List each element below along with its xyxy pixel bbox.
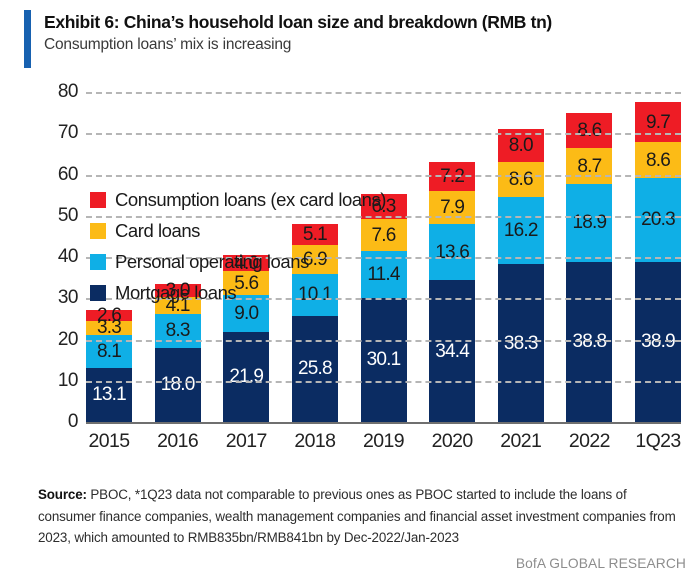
bar-segment[interactable]: 3.3 bbox=[86, 321, 132, 335]
gridline bbox=[86, 175, 681, 177]
legend-item[interactable]: Personal operating loans bbox=[90, 246, 440, 277]
legend-label: Consumption loans (ex card loans) bbox=[115, 189, 386, 211]
bar-value-label: 8.3 bbox=[166, 321, 190, 340]
bar-segment[interactable]: 18.9 bbox=[566, 184, 612, 262]
bar-segment[interactable]: 8.3 bbox=[155, 314, 201, 348]
x-axis-tick: 2022 bbox=[566, 430, 612, 453]
gridline bbox=[86, 92, 681, 94]
bar-segment[interactable]: 20.3 bbox=[635, 178, 681, 262]
bar-value-label: 8.7 bbox=[577, 157, 601, 176]
y-axis-tick: 30 bbox=[32, 287, 78, 309]
bar-segment[interactable]: 8.6 bbox=[498, 162, 544, 197]
x-axis-tick: 2019 bbox=[361, 430, 407, 453]
y-axis-tick: 60 bbox=[32, 164, 78, 186]
source-text: PBOC, *1Q23 data not comparable to previ… bbox=[38, 487, 676, 545]
gridline bbox=[86, 133, 681, 135]
gridline bbox=[86, 340, 681, 342]
bar-value-label: 34.4 bbox=[435, 342, 469, 361]
footer: Source: PBOC, *1Q23 data not comparable … bbox=[38, 484, 686, 549]
y-axis-tick: 80 bbox=[32, 81, 78, 103]
x-axis-tick: 2018 bbox=[292, 430, 338, 453]
bar-value-label: 18.0 bbox=[161, 375, 195, 394]
page-title: Exhibit 6: China’s household loan size a… bbox=[44, 11, 552, 33]
source-label: Source: bbox=[38, 487, 87, 502]
bar-value-label: 8.6 bbox=[577, 121, 601, 140]
legend-label: Personal operating loans bbox=[115, 251, 309, 273]
bar-segment[interactable]: 21.9 bbox=[223, 332, 269, 422]
exhibit-header: Exhibit 6: China’s household loan size a… bbox=[24, 10, 679, 68]
bar-value-label: 38.9 bbox=[641, 332, 675, 351]
y-axis-tick: 20 bbox=[32, 329, 78, 351]
legend-swatch-icon bbox=[90, 285, 106, 301]
bar-value-label: 13.1 bbox=[92, 385, 126, 404]
bar-segment[interactable]: 8.6 bbox=[566, 113, 612, 148]
legend-swatch-icon bbox=[90, 192, 106, 208]
bar-segment[interactable]: 13.1 bbox=[86, 368, 132, 422]
bar-value-label: 8.0 bbox=[509, 136, 533, 155]
bar-value-label: 8.1 bbox=[97, 342, 121, 361]
bar-value-label: 9.7 bbox=[646, 113, 670, 132]
legend-swatch-icon bbox=[90, 223, 106, 239]
x-axis-tick: 2020 bbox=[429, 430, 475, 453]
y-axis-tick: 40 bbox=[32, 246, 78, 268]
chart-legend: Consumption loans (ex card loans)Card lo… bbox=[90, 184, 440, 308]
page-subtitle: Consumption loans’ mix is increasing bbox=[44, 35, 552, 56]
bar-value-label: 30.1 bbox=[367, 350, 401, 369]
bar-value-label: 7.9 bbox=[440, 198, 464, 217]
bar-segment[interactable]: 38.8 bbox=[566, 262, 612, 422]
chart-page: Exhibit 6: China’s household loan size a… bbox=[0, 0, 699, 586]
y-axis-tick: 50 bbox=[32, 205, 78, 227]
x-axis: 201520162017201820192020202120221Q23 bbox=[86, 430, 681, 453]
source-note: Source: PBOC, *1Q23 data not comparable … bbox=[38, 484, 686, 549]
legend-item[interactable]: Consumption loans (ex card loans) bbox=[90, 184, 440, 215]
bar-segment[interactable]: 16.2 bbox=[498, 197, 544, 264]
bar-segment[interactable]: 30.1 bbox=[361, 298, 407, 422]
bar-value-label: 20.3 bbox=[641, 210, 675, 229]
x-axis-tick: 2021 bbox=[498, 430, 544, 453]
y-axis-tick: 70 bbox=[32, 122, 78, 144]
y-axis-tick: 0 bbox=[32, 411, 78, 433]
bar-segment[interactable]: 18.0 bbox=[155, 348, 201, 422]
bar-value-label: 38.8 bbox=[572, 332, 606, 351]
accent-bar bbox=[24, 10, 31, 68]
bar-value-label: 21.9 bbox=[229, 367, 263, 386]
bar-value-label: 25.8 bbox=[298, 359, 332, 378]
x-axis-line bbox=[86, 422, 681, 424]
gridline bbox=[86, 381, 681, 383]
x-axis-tick: 1Q23 bbox=[635, 430, 681, 453]
legend-label: Mortgage loans bbox=[115, 282, 236, 304]
bar-segment[interactable]: 8.6 bbox=[635, 142, 681, 177]
bar-segment[interactable]: 8.7 bbox=[566, 148, 612, 184]
bar-value-label: 8.6 bbox=[509, 170, 533, 189]
legend-item[interactable]: Card loans bbox=[90, 215, 440, 246]
header-text-block: Exhibit 6: China’s household loan size a… bbox=[44, 10, 552, 68]
legend-swatch-icon bbox=[90, 254, 106, 270]
bar-segment[interactable]: 9.7 bbox=[635, 102, 681, 142]
bar-value-label: 7.2 bbox=[440, 167, 464, 186]
x-axis-tick: 2016 bbox=[155, 430, 201, 453]
bar-segment[interactable]: 38.9 bbox=[635, 262, 681, 422]
x-axis-tick: 2015 bbox=[86, 430, 132, 453]
attribution: BofA GLOBAL RESEARCH bbox=[38, 556, 686, 571]
bar-value-label: 8.6 bbox=[646, 151, 670, 170]
legend-item[interactable]: Mortgage loans bbox=[90, 277, 440, 308]
chart-container: 01020304050607080 2.63.38.113.13.04.18.3… bbox=[0, 82, 699, 474]
y-axis-tick: 10 bbox=[32, 370, 78, 392]
x-axis-tick: 2017 bbox=[223, 430, 269, 453]
legend-label: Card loans bbox=[115, 220, 200, 242]
bar-value-label: 38.3 bbox=[504, 334, 538, 353]
y-axis: 01020304050607080 bbox=[32, 82, 78, 432]
bar-segment[interactable]: 38.3 bbox=[498, 264, 544, 422]
bar-value-label: 16.2 bbox=[504, 221, 538, 240]
bar-segment[interactable]: 25.8 bbox=[292, 316, 338, 422]
